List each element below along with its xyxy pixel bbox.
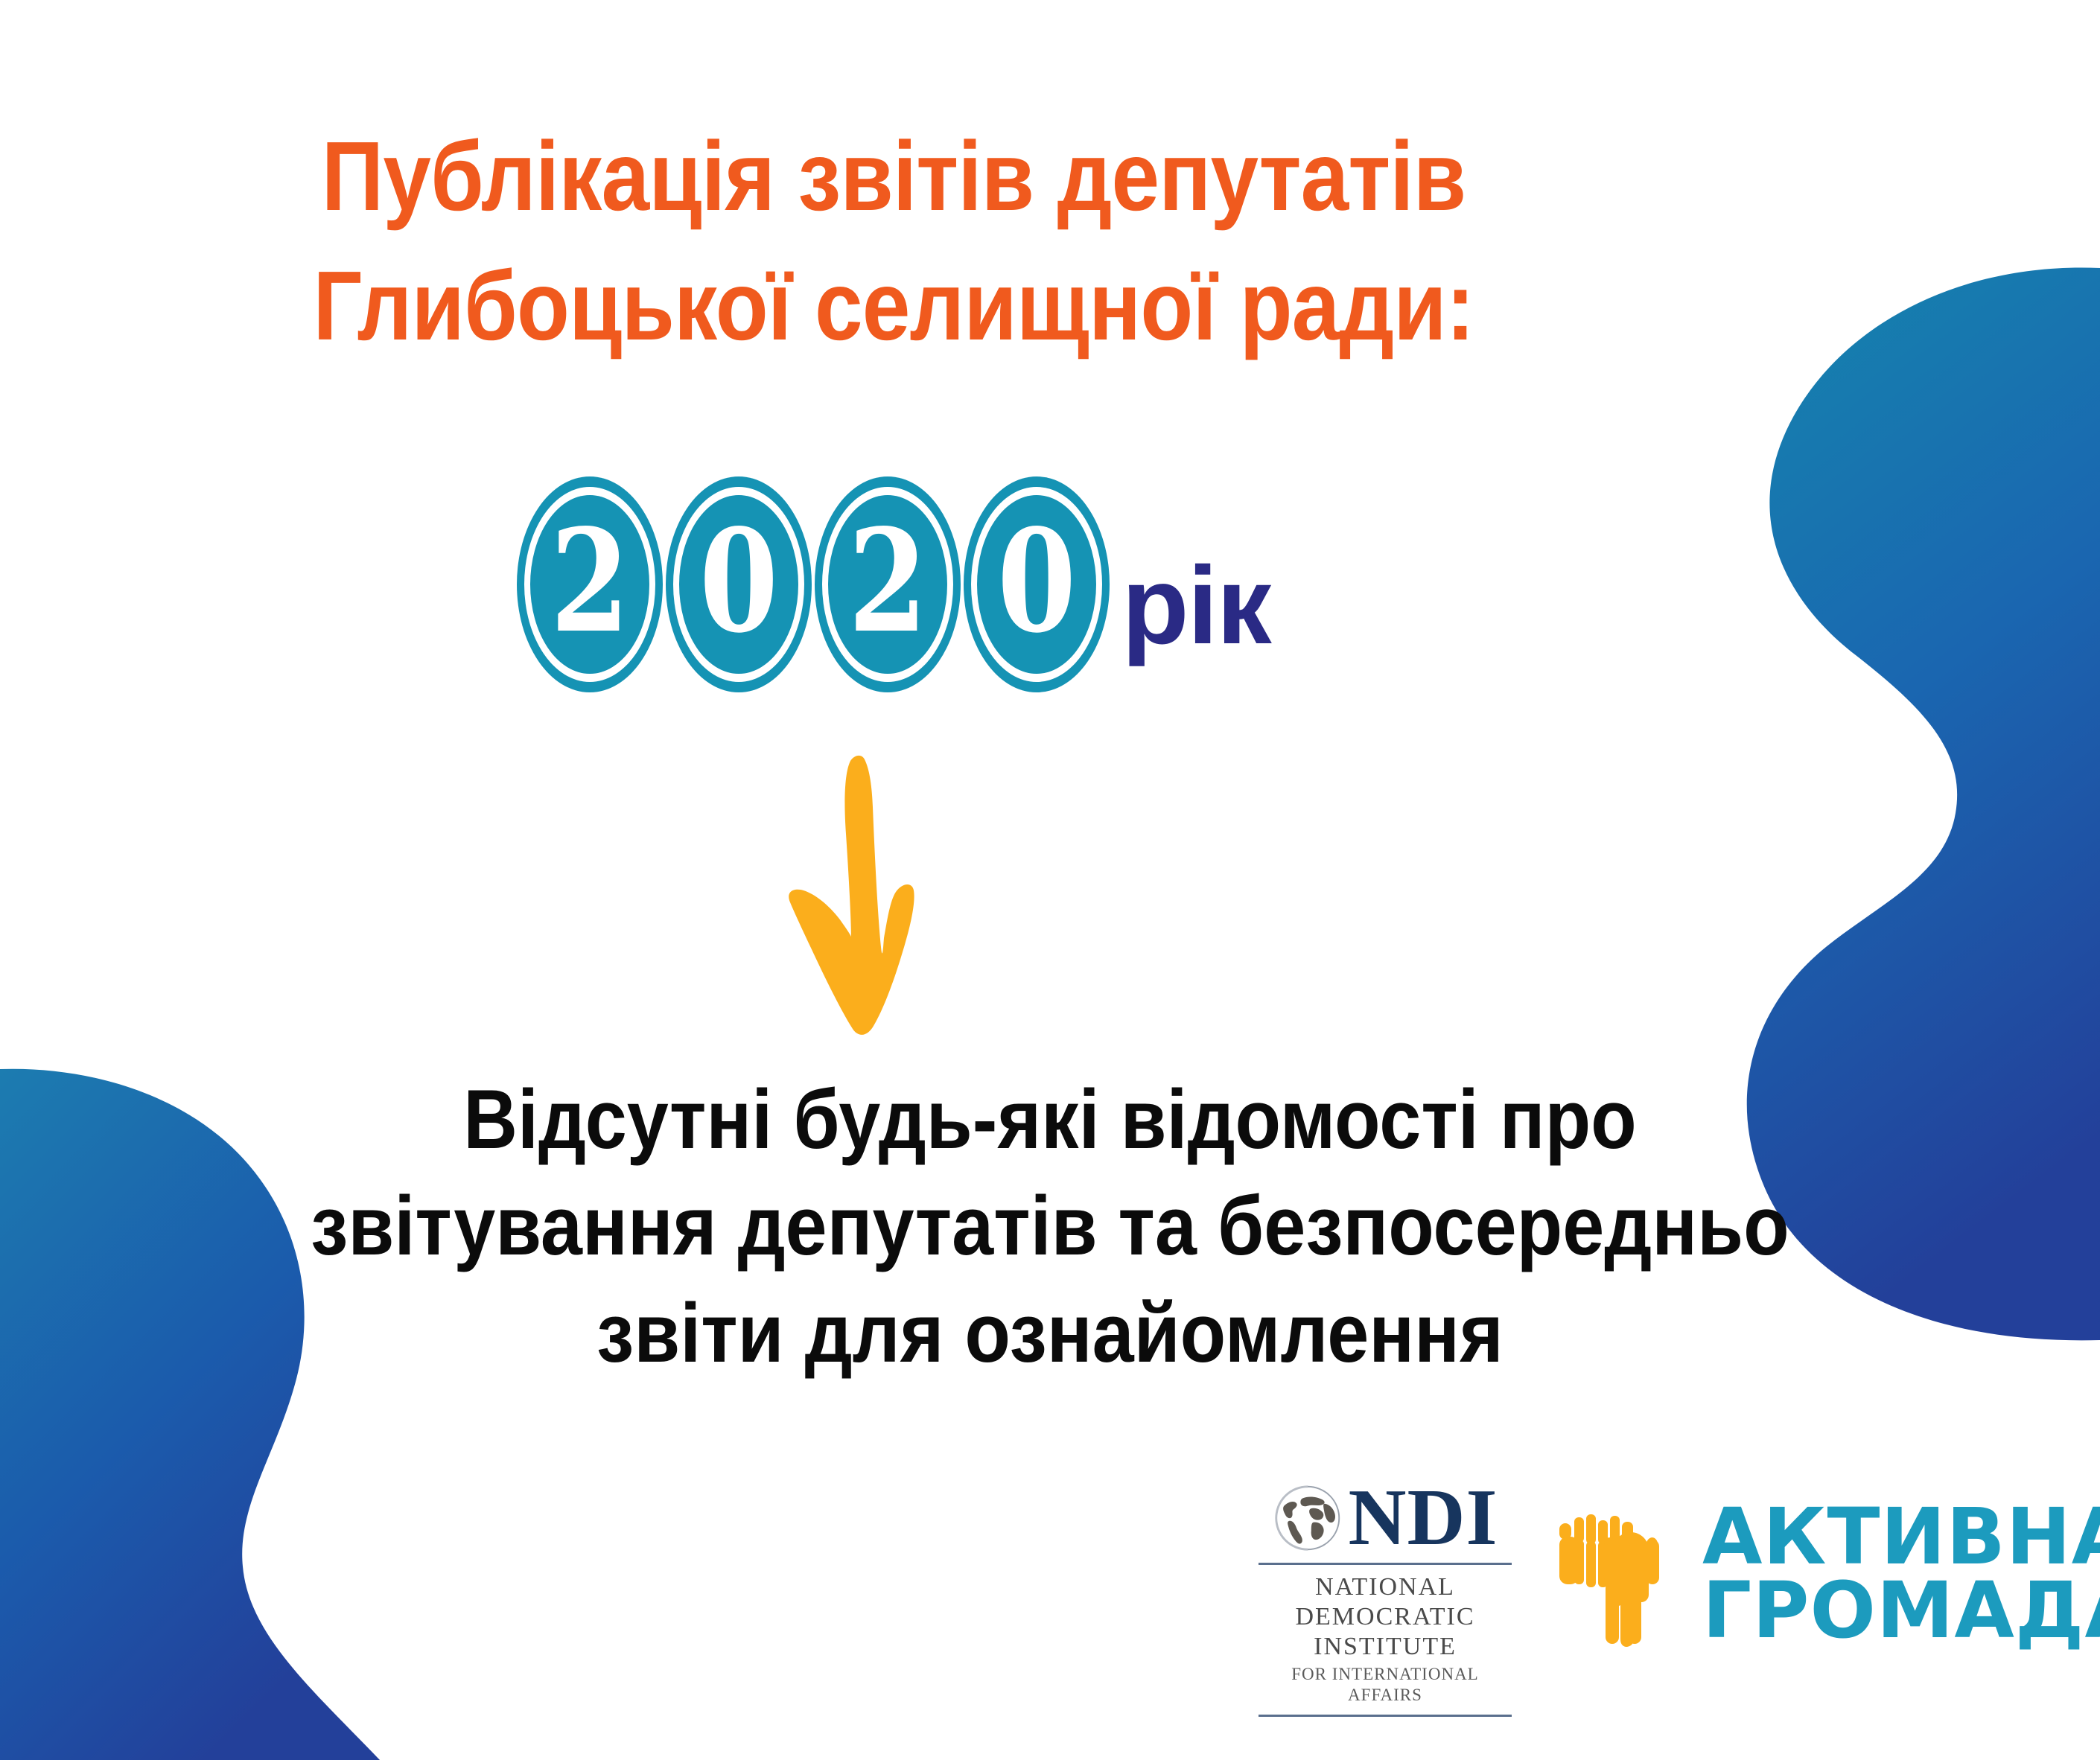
year-digit-glyph: 0 [699, 511, 778, 652]
body-text: Відсутні будь-які відомості про звітуван… [0, 1066, 2100, 1386]
down-arrow-icon [771, 752, 1016, 1042]
year-digit-badge: 2 [517, 476, 663, 692]
arrow-container [0, 752, 1787, 1042]
title-line-1: Публікація звітів депутатів [107, 112, 1680, 241]
body-line-2: звітування депутатів та безпосередньо [105, 1173, 1995, 1279]
ndi-subtitle-line-2: DEMOCRATIC [1295, 1602, 1474, 1632]
year-digit-glyph: 2 [848, 511, 927, 652]
ag-word-1: АКТИВНА [1702, 1500, 2100, 1574]
ndi-subtitle-line-4: FOR INTERNATIONAL AFFAIRS [1259, 1664, 1512, 1705]
active-community-logo: АКТИВНА ГРОМАДА [1558, 1478, 2100, 1648]
globe-icon [1272, 1482, 1343, 1554]
ndi-subtitle-line-3: INSTITUTE [1314, 1632, 1457, 1662]
year-digit-glyph: 0 [997, 511, 1076, 652]
body-line-1: Відсутні будь-які відомості про [105, 1066, 1995, 1173]
active-community-wordmark: АКТИВНА ГРОМАДА [1702, 1500, 2100, 1648]
year-digit-glyph: 2 [550, 511, 629, 652]
ag-word-2: ГРОМАДА [1702, 1574, 2100, 1648]
ndi-logo-top: NDI [1272, 1478, 1498, 1558]
ndi-divider-bottom [1259, 1715, 1512, 1717]
page-title: Публікація звітів депутатів Глибоцької с… [0, 112, 1787, 371]
ndi-divider-top [1259, 1563, 1512, 1565]
year-digit-badge: 0 [964, 476, 1110, 692]
year-display: 2 0 2 0 рік [0, 476, 1787, 692]
year-digit-badge: 0 [666, 476, 812, 692]
ndi-acronym: NDI [1348, 1478, 1498, 1558]
ndi-subtitle-line-1: NATIONAL [1315, 1572, 1455, 1602]
title-line-2: Глибоцької селищної ради: [107, 241, 1680, 371]
body-line-3: звіти для ознайомлення [105, 1280, 1995, 1386]
infographic-poster: Публікація звітів депутатів Глибоцької с… [0, 0, 2100, 1760]
footer-logos: NDI NATIONAL DEMOCRATIC INSTITUTE FOR IN… [1259, 1478, 2100, 1717]
ndi-logo: NDI NATIONAL DEMOCRATIC INSTITUTE FOR IN… [1259, 1478, 1512, 1717]
year-digit-badge: 2 [815, 476, 961, 692]
people-raised-hands-icon [1558, 1501, 1686, 1647]
year-suffix-label: рік [1121, 508, 1270, 661]
